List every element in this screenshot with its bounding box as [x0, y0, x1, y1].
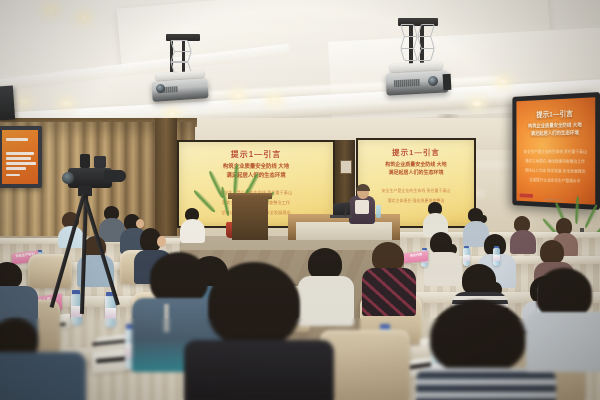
monitor-text-line: [6, 162, 36, 165]
tv-slide-body-line-1: 安全生产是企业的生命线 责任重于泰山: [520, 149, 591, 155]
attendee-hair: [540, 240, 564, 264]
attendee-torso: [416, 368, 556, 400]
attendee-torso: [526, 312, 600, 372]
wall-pillar: [155, 118, 177, 238]
tv-screen: 提示1—引言 构筑企业质量安全防线 大地 满足起居人们的生态环境 安全生产是企业…: [516, 97, 595, 205]
attendee-hair: [208, 262, 300, 346]
slide-subtitle-line-2: 满足起居人们的生态环境: [358, 170, 474, 177]
wall-plaque: [340, 160, 352, 174]
downlight-icon: [268, 96, 280, 103]
tv-slide-body-line-4: 全面提升企业安全生产管理水平: [520, 177, 591, 185]
attendee-torso: [510, 230, 536, 254]
projector-lens: [156, 84, 165, 93]
downlight-icon: [497, 78, 509, 85]
downlight-icon: [60, 100, 72, 107]
wall-monitor-left: [0, 126, 42, 188]
tv-slide-title: 提示1—引言: [516, 107, 595, 120]
downlight-icon: [45, 6, 57, 13]
conference-room-photo: 提示1—引言 构筑企业质量安全防线 大地 满足起居人们的生态环境 安全生产是企业…: [0, 0, 600, 400]
tv-slide-subtitle-line-1: 构筑企业质量安全防线 大地: [516, 122, 595, 130]
plant-frond: [232, 164, 240, 194]
projector-rear-panel: [443, 74, 452, 90]
attendee-head: [157, 236, 166, 247]
presenter-laptop-base: [330, 215, 352, 218]
lanyard: [164, 304, 169, 332]
camera-microphone: [94, 156, 106, 168]
camera-handle: [104, 170, 126, 182]
attendee-torso: [184, 340, 334, 400]
attendee-hair: [536, 268, 592, 318]
scissor-link: [400, 48, 418, 61]
name-card-text: 会议代表: [406, 253, 426, 259]
attendee-torso: [180, 219, 205, 243]
monitor-text-line: [6, 152, 34, 155]
tripod-leg: [82, 193, 120, 305]
attendee-torso: [362, 268, 416, 316]
tv-slide-accent-bar: [520, 193, 533, 197]
downlight-icon: [78, 14, 90, 21]
water-bottle: [376, 205, 381, 218]
attendee-hair: [430, 300, 526, 374]
attendee-torso: [298, 276, 354, 326]
monitor-text-line: [6, 157, 31, 160]
slide-title: 提示1—引言: [179, 149, 333, 160]
ceiling-projector-right: [388, 18, 468, 114]
slide-title: 提示1—引言: [358, 147, 474, 158]
bottle-label: [463, 255, 470, 261]
presenter-hair: [356, 184, 370, 191]
tv-slide-body-line-2: 落实主体责任 强化隐患排查整治工作: [520, 158, 591, 165]
downlight-icon: [232, 92, 244, 99]
wall-tv-right: 提示1—引言 构筑企业质量安全防线 大地 满足起居人们的生态环境 安全生产是企业…: [512, 92, 600, 210]
wall-speaker: [0, 85, 15, 120]
scissor-link: [417, 48, 435, 61]
podium: [232, 196, 268, 240]
ceiling-projector-left: [150, 34, 220, 118]
head-table-cloth: [296, 222, 392, 240]
slide-subtitle-line-1: 构筑企业质量安全防线 大地: [358, 162, 474, 169]
camera-lens: [62, 172, 74, 184]
projector-lens: [428, 76, 438, 86]
plant-frond: [220, 186, 231, 216]
slide-body-line-2: 落实主体责任 强化隐患排查整治: [365, 198, 467, 204]
plant-frond: [583, 204, 599, 230]
downlight-icon: [18, 98, 30, 105]
monitor-text-line: [6, 138, 28, 141]
downlight-icon: [471, 100, 483, 107]
tv-slide-body-line-3: 坚持以人为本 科学发展 安全发展理念: [520, 168, 591, 175]
monitor-text-line: [6, 167, 26, 170]
camera-viewfinder: [80, 154, 90, 168]
monitor-text-line: [6, 174, 20, 176]
presenter-shirt: [355, 200, 369, 214]
projector-body: [385, 70, 448, 95]
projector-vent: [394, 79, 420, 87]
attendee-torso: [424, 252, 462, 286]
plant-frond: [574, 196, 580, 224]
attendee-hair: [0, 262, 22, 288]
attendee-hair: [150, 252, 208, 304]
bottle-label: [493, 255, 500, 261]
tv-slide-subtitle-line-2: 满足起居人们的生态环境: [516, 130, 595, 138]
slide-body-line-1: 安全生产是企业的生命线 责任重于泰山: [365, 188, 467, 194]
video-camera-on-tripod: [58, 146, 138, 386]
